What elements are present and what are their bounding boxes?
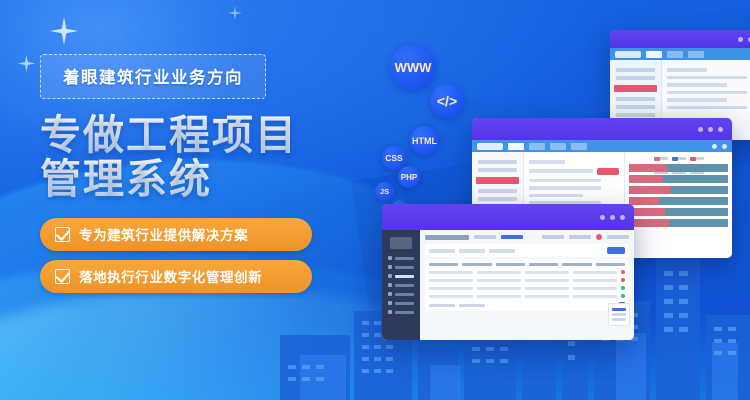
status-badge bbox=[621, 278, 625, 282]
menu-icon bbox=[388, 256, 392, 260]
table-row bbox=[529, 179, 601, 183]
tab[interactable] bbox=[474, 235, 496, 239]
window-titlebar bbox=[382, 204, 634, 230]
window-dot-icon bbox=[620, 215, 625, 220]
dashboard-window-front[interactable] bbox=[382, 204, 634, 340]
table-row[interactable] bbox=[429, 286, 625, 290]
table-header-row bbox=[429, 263, 625, 266]
top-navbar[interactable] bbox=[610, 48, 750, 60]
nav-item[interactable] bbox=[508, 143, 524, 150]
sidebar-item[interactable] bbox=[388, 283, 414, 287]
nav-item[interactable] bbox=[646, 51, 662, 58]
text-line bbox=[529, 169, 593, 173]
search-button[interactable] bbox=[607, 247, 625, 254]
context-menu[interactable] bbox=[608, 303, 630, 326]
menu-icon bbox=[388, 265, 392, 269]
table-row[interactable] bbox=[429, 270, 625, 274]
page-title bbox=[425, 235, 469, 240]
bubble-php: PHP bbox=[398, 166, 420, 188]
bubble-code: </> bbox=[430, 84, 464, 118]
tech-bubble-cluster: WWW </> HTML CSS PHP JS 0 bbox=[372, 34, 502, 224]
menu-icon bbox=[388, 274, 392, 278]
nav-item[interactable] bbox=[529, 143, 545, 150]
status-badge bbox=[621, 270, 625, 274]
toolbar-action[interactable] bbox=[542, 235, 564, 239]
nav-item[interactable] bbox=[667, 51, 683, 58]
feature-badge-1[interactable]: 专为建筑行业提供解决方案 bbox=[40, 218, 312, 251]
column-header bbox=[462, 263, 491, 266]
legend-entry bbox=[654, 157, 668, 160]
check-square-icon bbox=[55, 227, 70, 242]
tree-item[interactable] bbox=[616, 76, 655, 80]
bubble-css: CSS bbox=[382, 146, 406, 170]
headline-block: 着眼建筑行业业务方向 专做工程项目 管理系统 专为建筑行业提供解决方案 落地执行… bbox=[40, 54, 380, 293]
text-line bbox=[667, 76, 747, 80]
app-sidebar[interactable] bbox=[382, 230, 420, 340]
bubble-html: HTML bbox=[410, 126, 439, 155]
column-header bbox=[596, 263, 625, 266]
window-dot-icon bbox=[718, 127, 723, 132]
feature-badge-list: 专为建筑行业提供解决方案 落地执行行业数字化管理创新 bbox=[40, 218, 380, 293]
sidebar-item[interactable] bbox=[388, 301, 414, 305]
filter-field[interactable] bbox=[489, 249, 515, 253]
bubble-www: WWW bbox=[390, 44, 436, 90]
text-line bbox=[667, 106, 747, 110]
headline-line-1: 专做工程项目 bbox=[40, 113, 380, 157]
status-badge bbox=[621, 286, 625, 290]
menu-item[interactable] bbox=[612, 318, 626, 321]
sparkle-icon bbox=[50, 17, 78, 45]
sidebar-item[interactable] bbox=[388, 292, 414, 296]
tree-item[interactable] bbox=[616, 97, 655, 101]
sidebar-item[interactable] bbox=[388, 310, 414, 314]
text-line bbox=[667, 68, 707, 72]
column-header bbox=[529, 263, 558, 266]
filter-field[interactable] bbox=[459, 249, 485, 253]
table-row[interactable] bbox=[429, 278, 625, 282]
tree-item-selected[interactable] bbox=[614, 85, 657, 92]
notification-icon[interactable] bbox=[712, 144, 717, 149]
legend-entry bbox=[672, 157, 686, 160]
tree-item[interactable] bbox=[616, 105, 655, 109]
window-titlebar bbox=[610, 30, 750, 48]
menu-icon bbox=[388, 310, 392, 314]
menu-item[interactable] bbox=[612, 313, 626, 316]
app-logo-icon bbox=[390, 237, 412, 249]
chart-bar bbox=[629, 219, 728, 227]
window-dot-icon bbox=[738, 37, 743, 42]
main-content bbox=[420, 230, 634, 340]
column-header bbox=[429, 263, 458, 266]
table-row bbox=[529, 186, 601, 190]
content-header bbox=[425, 234, 629, 240]
promo-banner: 着眼建筑行业业务方向 专做工程项目 管理系统 专为建筑行业提供解决方案 落地执行… bbox=[0, 0, 750, 400]
chart-bar bbox=[629, 164, 728, 172]
toolbar-action[interactable] bbox=[569, 235, 591, 239]
footer-text bbox=[429, 304, 455, 307]
chart-legend bbox=[629, 157, 728, 160]
chart-bar bbox=[629, 197, 728, 205]
menu-item[interactable] bbox=[612, 308, 626, 311]
tab-active[interactable] bbox=[501, 235, 523, 239]
tree-item[interactable] bbox=[616, 113, 655, 117]
table-row bbox=[529, 194, 583, 198]
toolbar-action[interactable] bbox=[607, 235, 629, 239]
sparkle-icon bbox=[228, 6, 242, 20]
window-dot-icon bbox=[698, 127, 703, 132]
menu-icon bbox=[388, 283, 392, 287]
menu-icon bbox=[388, 301, 392, 305]
sparkle-icon bbox=[18, 55, 35, 72]
table-row[interactable] bbox=[429, 294, 625, 298]
sidebar-item[interactable] bbox=[388, 265, 414, 269]
primary-button[interactable] bbox=[597, 168, 619, 175]
nav-item[interactable] bbox=[550, 143, 566, 150]
chart-bar bbox=[629, 186, 728, 194]
sidebar-item-active[interactable] bbox=[388, 274, 414, 278]
window-titlebar bbox=[472, 118, 732, 140]
feature-badge-2-label: 落地执行行业数字化管理创新 bbox=[79, 266, 262, 286]
chart-bar bbox=[629, 208, 728, 216]
text-line bbox=[667, 91, 747, 95]
legend-entry bbox=[690, 157, 704, 160]
sidebar-item[interactable] bbox=[388, 256, 414, 260]
text-line bbox=[667, 98, 727, 102]
window-dot-icon bbox=[600, 215, 605, 220]
feature-badge-2[interactable]: 落地执行行业数字化管理创新 bbox=[40, 260, 312, 293]
text-line bbox=[529, 160, 565, 164]
tagline-text: 着眼建筑行业业务方向 bbox=[63, 69, 243, 87]
filter-toolbar[interactable] bbox=[425, 244, 629, 257]
chart-bar bbox=[629, 175, 728, 183]
footer-text bbox=[459, 304, 485, 307]
notification-badge[interactable] bbox=[596, 234, 602, 240]
top-navbar[interactable] bbox=[472, 140, 732, 152]
filter-field[interactable] bbox=[429, 249, 455, 253]
chart-pane bbox=[624, 152, 732, 258]
tagline-box: 着眼建筑行业业务方向 bbox=[40, 54, 266, 99]
tree-item[interactable] bbox=[616, 68, 655, 72]
status-badge bbox=[621, 294, 625, 298]
check-square-icon bbox=[55, 269, 70, 284]
column-header bbox=[562, 263, 591, 266]
window-body bbox=[382, 230, 634, 340]
page-title: 专做工程项目 管理系统 bbox=[40, 113, 380, 202]
nav-item[interactable] bbox=[571, 143, 587, 150]
window-dot-icon bbox=[708, 127, 713, 132]
app-logo-icon bbox=[615, 51, 641, 58]
column-header bbox=[496, 263, 525, 266]
nav-item[interactable] bbox=[688, 51, 704, 58]
headline-line-2: 管理系统 bbox=[40, 157, 380, 201]
table-footer bbox=[429, 302, 625, 308]
feature-badge-1-label: 专为建筑行业提供解决方案 bbox=[79, 224, 248, 244]
menu-icon bbox=[388, 292, 392, 296]
window-dot-icon bbox=[610, 215, 615, 220]
text-line bbox=[667, 83, 727, 87]
data-table bbox=[425, 260, 629, 311]
avatar[interactable] bbox=[722, 144, 727, 149]
